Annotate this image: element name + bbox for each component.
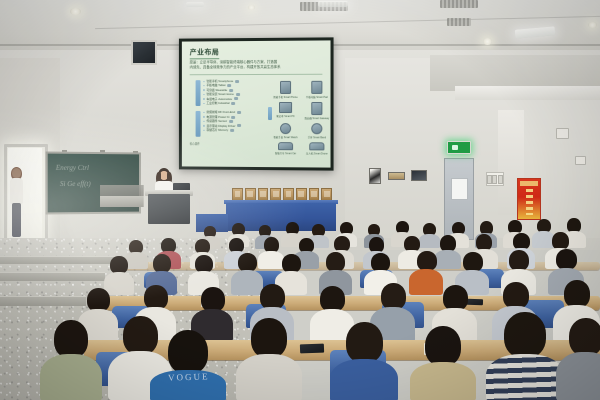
- audience-member: [410, 326, 476, 400]
- item-icon: [229, 120, 233, 123]
- product-cell: 智能手表 Smart Watch: [273, 123, 298, 139]
- ceiling-soffit-lower: [455, 86, 600, 100]
- shoulders: [40, 354, 102, 400]
- projection-screen: 产业布局 愿景：立足半导体，深耕智能终端核心器件与方案，打造国 内领先、具备全球…: [182, 40, 331, 167]
- wall-panel-box: [131, 40, 157, 65]
- shirt-logo-text: VOGUE: [168, 371, 210, 382]
- slide-group-tab: [196, 111, 201, 137]
- product-caption: 智能汽车 Smart Car: [273, 151, 298, 155]
- portrait-frame: [369, 168, 381, 184]
- light-switch-plate[interactable]: [486, 172, 504, 186]
- chalk-tray-upper: [100, 185, 144, 196]
- slide-body: 智能手机 Smartphone 平板电脑 Tablet 可穿戴 Wearable…: [188, 79, 326, 165]
- audience-member: [40, 320, 102, 400]
- car-icon: [278, 142, 293, 150]
- slide-left-column: 智能手机 Smartphone 平板电脑 Tablet 可穿戴 Wearable…: [196, 79, 263, 137]
- wall-outlet: [556, 128, 569, 139]
- ceiling-downlight: [248, 5, 255, 10]
- floor-step: [0, 272, 105, 281]
- head: [425, 326, 461, 366]
- audience-member: [150, 330, 226, 400]
- item-icon: [232, 116, 236, 119]
- product-caption: 无人机 Smart Drone: [304, 151, 329, 155]
- product-icon-grid: 智能手机 Smart Phone 平板电脑 Smart Pad 笔记本 Smar…: [273, 81, 330, 156]
- head: [569, 318, 600, 356]
- slide-item-label: 存储芯片 Memory: [206, 128, 228, 132]
- slide-group: 核心器件 射频前端 RF Front-End 电源管理 Power IC 传感器…: [196, 110, 263, 132]
- watch-icon: [280, 123, 291, 134]
- audience-member: [556, 318, 600, 400]
- head: [346, 322, 383, 363]
- item-icon: [228, 84, 232, 87]
- ceiling-panel-light: [318, 1, 348, 7]
- head: [54, 320, 88, 358]
- light-switch[interactable]: [498, 175, 503, 184]
- slide-group-tab: [196, 80, 201, 106]
- slide-item-label: 工业控制 Industrial: [206, 101, 229, 105]
- slide-divider: [190, 74, 323, 75]
- chalk-tray: [100, 196, 144, 207]
- head: [251, 318, 287, 358]
- item-icon: [229, 89, 233, 92]
- chalk-writing-line2: Si Ge eff(t): [60, 180, 91, 188]
- banner-text-glyphs: [526, 189, 533, 215]
- product-caption: 手环 Smart Band: [304, 135, 329, 139]
- head: [564, 280, 590, 308]
- lecture-hall-photo: 产业布局 愿景：立足半导体，深耕智能终端核心器件与方案，打造国 内领先、具备全球…: [0, 0, 600, 400]
- audience-member: [330, 322, 398, 400]
- head: [463, 252, 483, 272]
- head: [509, 250, 529, 271]
- head: [168, 330, 208, 374]
- ceiling-downlight: [588, 22, 597, 28]
- shoulders: [236, 354, 302, 400]
- shoulders: [410, 362, 476, 400]
- light-switch[interactable]: [492, 175, 497, 184]
- audience-member: [486, 312, 564, 400]
- ceiling-downlight: [483, 38, 492, 45]
- slide-group-list: 射频前端 RF Front-End 电源管理 Power IC 传感器件 Sen…: [196, 110, 263, 132]
- doorway-person-head: [12, 168, 21, 178]
- floor-step: [0, 296, 86, 306]
- product-cell: 智能手机 Smart Phone: [273, 81, 298, 99]
- dark-frame: [411, 170, 427, 181]
- doorway-person-legs: [12, 203, 21, 237]
- podium: [148, 194, 190, 224]
- head: [326, 252, 345, 272]
- doorway-person-torso: [10, 178, 23, 204]
- ceiling-vent: [440, 0, 478, 8]
- product-caption: 笔记本 Smart PC: [273, 114, 298, 118]
- floor-step: [0, 256, 120, 264]
- tablet-icon: [311, 81, 322, 94]
- product-caption: 智能手表 Smart Watch: [273, 135, 298, 139]
- exit-door-window: [451, 178, 468, 200]
- product-caption: 智能手机 Smart Phone: [273, 95, 298, 99]
- slide-subtitle-line2: 内领先、具备全球竞争力的产业平台，构建开放共赢生态体系: [190, 65, 281, 69]
- product-cell: 智能汽车 Smart Car: [273, 142, 298, 155]
- drone-icon: [309, 142, 324, 150]
- wall-outlet: [575, 156, 586, 165]
- head: [417, 251, 437, 271]
- ceiling-downlight: [70, 8, 81, 15]
- slide-title: 产业布局: [190, 47, 220, 59]
- slide-list-item: 存储芯片 Memory: [203, 128, 263, 133]
- slide-list-item: 工业控制 Industrial: [203, 101, 263, 105]
- head: [503, 282, 529, 309]
- band-icon: [311, 123, 322, 134]
- head: [381, 283, 406, 310]
- smartphone-on-desk: [300, 344, 324, 354]
- shoulders: [486, 354, 564, 400]
- head: [556, 249, 577, 270]
- emergency-exit-icon: [447, 141, 471, 154]
- router-icon: [311, 102, 322, 115]
- banner-header-strip: [520, 181, 538, 186]
- red-wall-banner: [517, 178, 541, 220]
- item-icon: [234, 97, 238, 100]
- person-in-doorway: [9, 168, 25, 246]
- slide-group: 智能手机 Smartphone 平板电脑 Tablet 可穿戴 Wearable…: [196, 79, 263, 105]
- ceiling-panel-light: [186, 2, 204, 7]
- projection-screen-frame: 产业布局 愿景：立足半导体，深耕智能终端核心器件与方案，打造国 内领先、具备全球…: [179, 37, 334, 170]
- item-icon: [231, 102, 235, 105]
- plaque-frame: [388, 172, 405, 180]
- slide-side-label: 核心器件: [190, 142, 200, 146]
- product-cell: 平板电脑 Smart Pad: [304, 81, 329, 99]
- slide-item-label: 车载电子 Automotive: [206, 97, 232, 101]
- ceiling-vent: [447, 18, 471, 26]
- audience-member: [236, 318, 302, 400]
- head: [504, 312, 546, 358]
- product-cell: 手环 Smart Band: [304, 123, 329, 139]
- slide-subtitle: 愿景：立足半导体，深耕智能终端核心器件与方案，打造国 内领先、具备全球竞争力的产…: [190, 60, 323, 71]
- slide-right-tab: [268, 107, 272, 120]
- item-icon: [235, 80, 239, 83]
- product-cell: 路由器 Smart Gateway: [304, 102, 329, 120]
- item-icon: [230, 129, 234, 132]
- slide-subtitle-line1: 愿景：立足半导体，深耕智能终端核心器件与方案，打造国: [190, 60, 277, 64]
- phone-icon: [280, 81, 291, 94]
- shoulders: [556, 352, 600, 400]
- item-icon: [237, 111, 241, 114]
- product-caption: 路由器 Smart Gateway: [304, 116, 329, 120]
- shoulders: [330, 359, 398, 400]
- light-switch[interactable]: [487, 175, 492, 184]
- slide-group-list: 智能手机 Smartphone 平板电脑 Tablet 可穿戴 Wearable…: [196, 79, 263, 105]
- product-cell: 无人机 Smart Drone: [304, 142, 329, 155]
- item-icon: [236, 93, 240, 96]
- chalk-writing-line1: Energy Ctrl: [56, 164, 89, 172]
- product-caption: 平板电脑 Smart Pad: [304, 95, 329, 99]
- item-icon: [237, 124, 241, 127]
- laptop-icon: [279, 102, 292, 113]
- product-cell: 笔记本 Smart PC: [273, 102, 298, 120]
- slide-right-column: 智能手机 Smart Phone 平板电脑 Smart Pad 笔记本 Smar…: [273, 81, 330, 156]
